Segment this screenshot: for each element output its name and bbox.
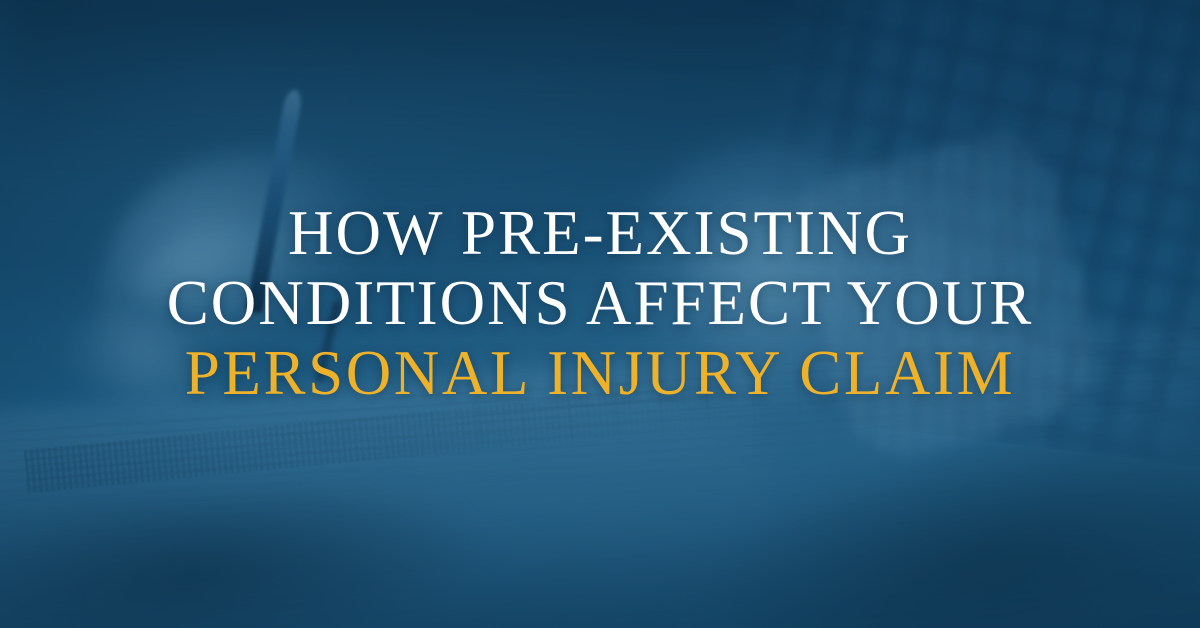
title-line-1: HOW PRE-EXISTING	[40, 198, 1160, 268]
title-line-2: CONDITIONS AFFECT YOUR	[40, 268, 1160, 338]
title-line-3-accent: PERSONAL INJURY CLAIM	[40, 338, 1160, 408]
banner-title: HOW PRE-EXISTING CONDITIONS AFFECT YOUR …	[0, 198, 1200, 408]
blog-header-banner: HOW PRE-EXISTING CONDITIONS AFFECT YOUR …	[0, 0, 1200, 628]
